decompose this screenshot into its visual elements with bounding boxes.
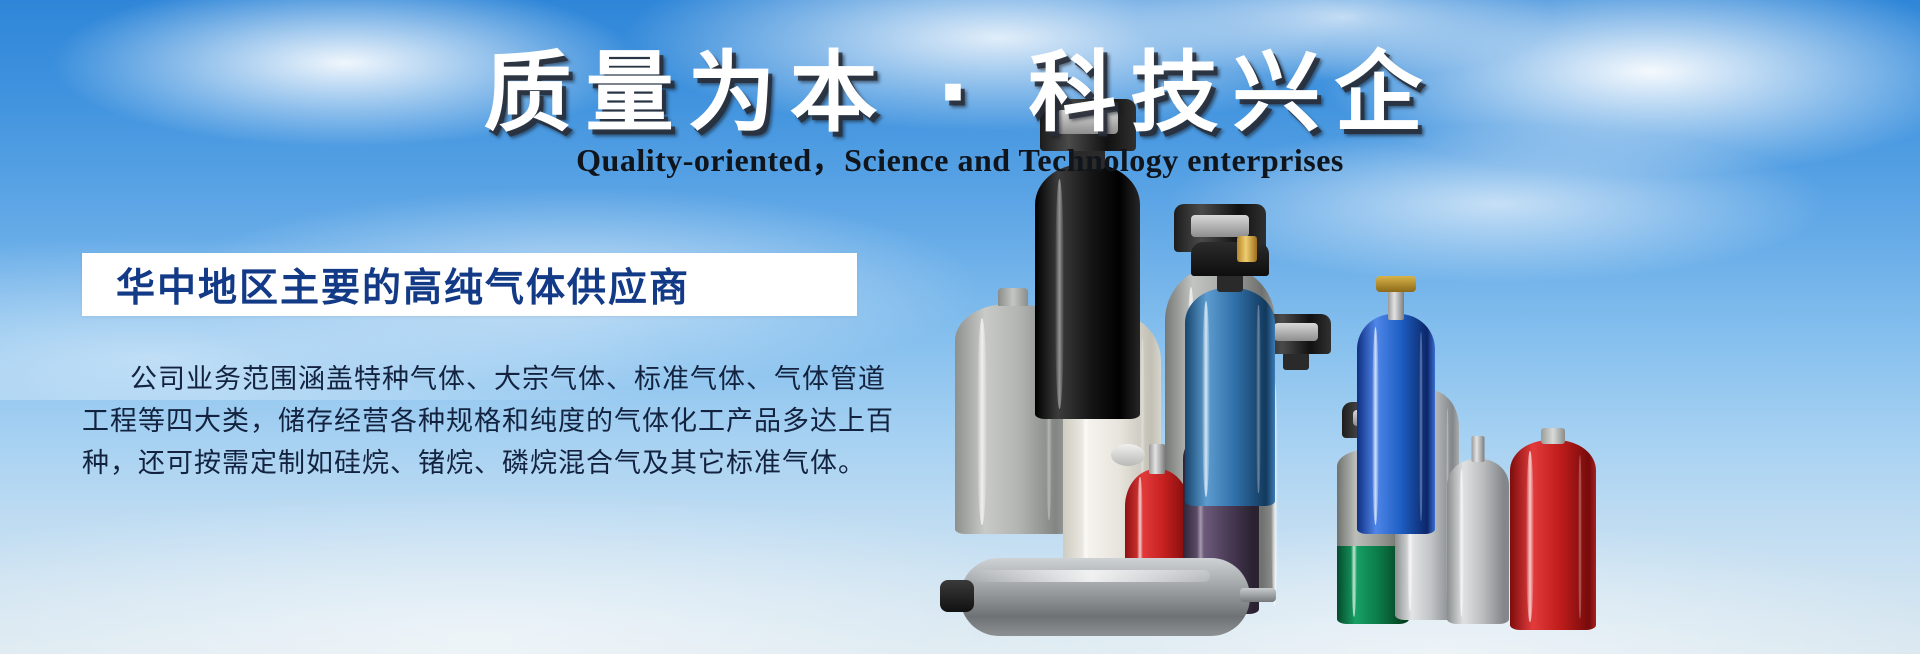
body-paragraph: 公司业务范围涵盖特种气体、大宗气体、标准气体、气体管道 工程等四大类，储存经营各… (82, 358, 872, 484)
cylinder-blue-bright (1357, 314, 1435, 534)
page-subtitle: Quality-oriented，Science and Technology … (0, 135, 1920, 181)
cylinder-red-large (1510, 440, 1596, 630)
tank-outlet (1240, 588, 1276, 602)
body-line-3: 种，还可按需定制如硅烷、锗烷、磷烷混合气及其它标准气体。 (82, 442, 872, 484)
promo-banner: 质量为本 · 科技兴企 Quality-oriented，Science and… (0, 0, 1920, 654)
body-line-1: 公司业务范围涵盖特种气体、大宗气体、标准气体、气体管道 (82, 358, 872, 400)
cylinder-black-tall (1035, 164, 1140, 419)
page-title: 质量为本 · 科技兴企 (0, 22, 1920, 149)
body-line-2: 工程等四大类，储存经营各种规格和纯度的气体化工产品多达上百 (82, 400, 872, 442)
cylinder-silver-small (1447, 459, 1509, 624)
tank-valve-knob (940, 580, 974, 612)
tagline-highlight-box: 华中地区主要的高纯气体供应商 (82, 253, 857, 316)
tagline-text: 华中地区主要的高纯气体供应商 (82, 257, 690, 313)
tank-horizontal-grey (960, 558, 1250, 636)
cylinder-blue-steel (1185, 288, 1275, 506)
